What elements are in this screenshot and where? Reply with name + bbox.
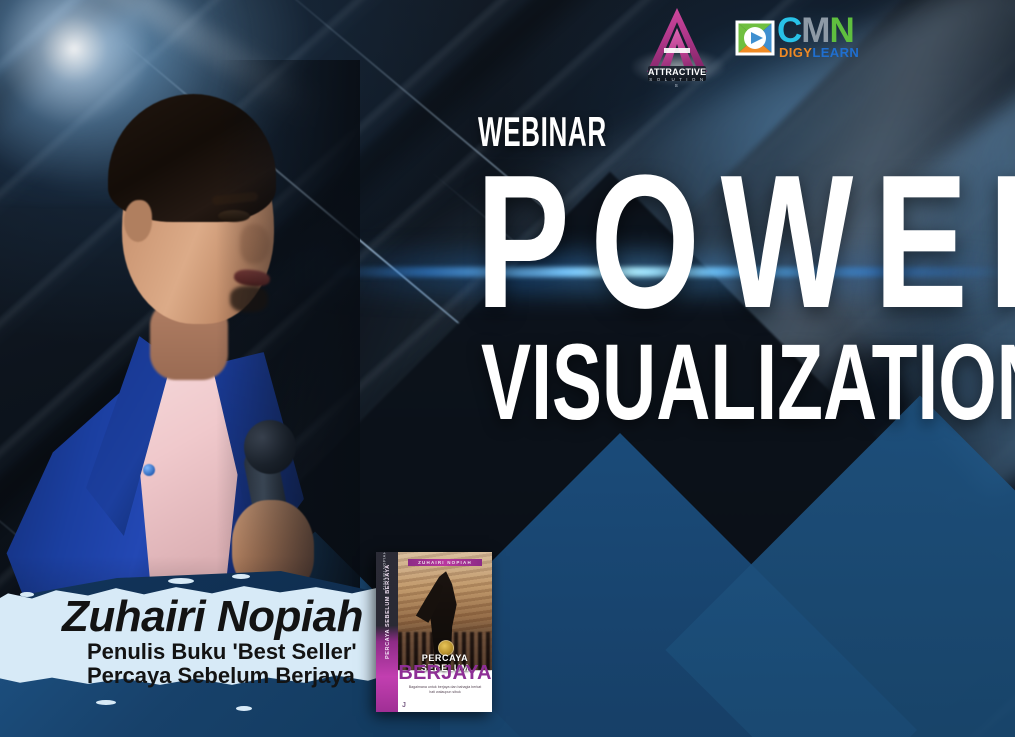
page-title: POWER	[476, 168, 1015, 316]
speaker-eye	[218, 210, 250, 222]
attractive-logo[interactable]: ATTRACTIVE S O L U T I O N S	[636, 4, 718, 88]
cmn-subtext-learn: LEARN	[812, 45, 859, 60]
speaker-name: Zuhairi Nopiah	[62, 592, 363, 642]
attractive-a-crossbar-icon	[664, 48, 690, 53]
book-tagline: Bagaimana untuk berjaya dan bahagia berk…	[406, 685, 484, 695]
brush-speck-3	[20, 592, 34, 597]
speaker-credential-line-1: Penulis Buku 'Best Seller'	[87, 639, 357, 665]
speaker-goatee	[230, 286, 268, 312]
speaker-ear	[124, 200, 152, 242]
speaker-credential-line-2: Percaya Sebelum Berjaya	[87, 663, 355, 689]
cmn-subtext-digy: DIGY	[779, 45, 812, 60]
attractive-logo-subtext: S O L U T I O N S	[648, 77, 706, 89]
play-triangle-icon	[731, 14, 779, 61]
attractive-logo-wordmark: ATTRACTIVE	[648, 67, 706, 77]
book-cover[interactable]: PERCAYA SEBELUM BERJAYA ZUHAIRI NOPIAH Z…	[376, 552, 492, 712]
cmn-subtext: DIGYLEARN	[779, 45, 859, 60]
brush-speck-5	[236, 706, 252, 711]
cmn-wordmark: CMN	[777, 14, 854, 48]
book-front-face: ZUHAIRI NOPIAH PERCAYA SEBELUM BERJAYA B…	[398, 552, 492, 712]
speaker-nose	[240, 224, 270, 264]
book-spine-author: ZUHAIRI NOPIAH	[382, 552, 387, 601]
book-title-line-2: BERJAYA	[398, 662, 492, 684]
cmn-digylearn-logo[interactable]: CMN DIGYLEARN	[731, 12, 853, 64]
brush-speck-1	[168, 578, 194, 584]
page-subtitle: VISUALIZATION	[481, 339, 1015, 425]
microphone-head	[244, 420, 296, 474]
book-publisher-mark: J	[402, 702, 406, 709]
book-author-name: ZUHAIRI NOPIAH	[408, 559, 482, 566]
webinar-poster: ATTRACTIVE S O L U T I O N S CMN DIGYLEA…	[0, 0, 1015, 737]
brush-speck-4	[96, 700, 116, 705]
brush-speck-2	[232, 574, 250, 579]
book-spine: PERCAYA SEBELUM BERJAYA ZUHAIRI NOPIAH	[376, 552, 398, 712]
speaker-lapel-pin	[143, 464, 155, 476]
